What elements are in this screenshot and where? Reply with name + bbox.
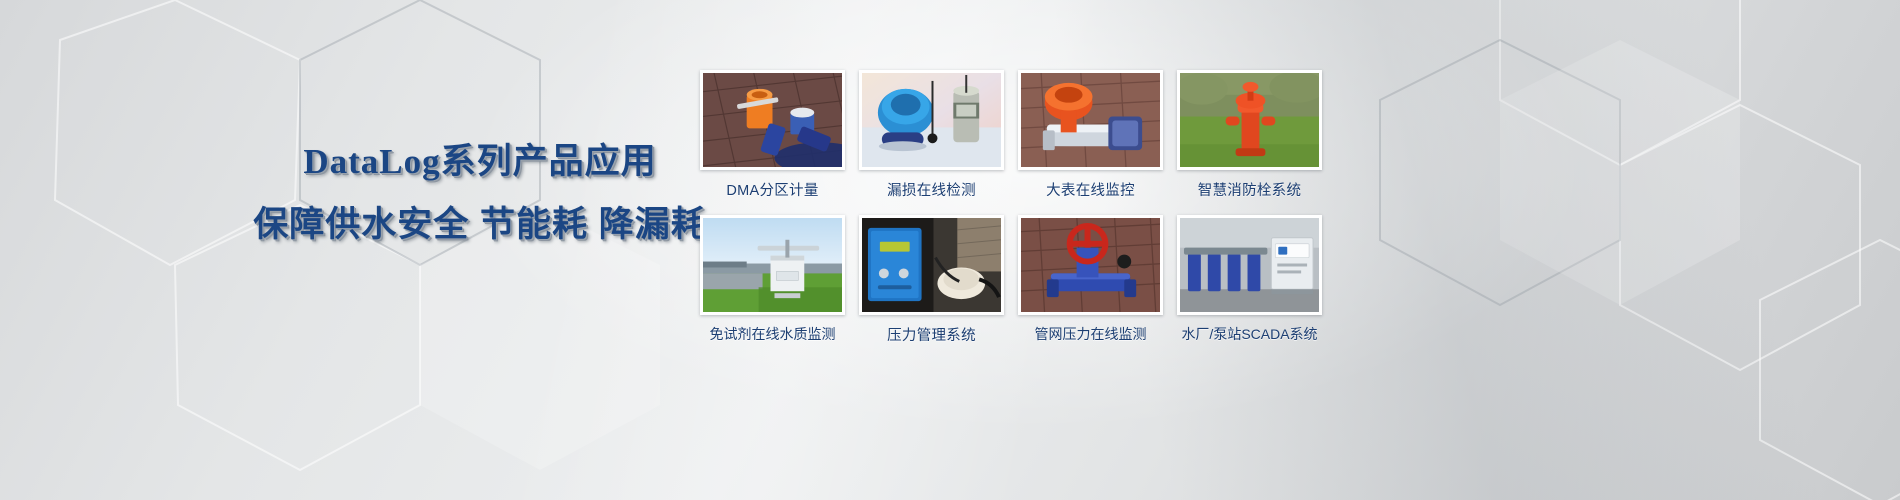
headline: DataLog系列产品应用 保障供水安全 节能耗 降漏耗 <box>250 140 710 248</box>
product-card[interactable]: DMA分区计量 <box>700 70 845 205</box>
product-card[interactable]: 大表在线监控 <box>1018 70 1163 205</box>
leakage-online-detection-photo <box>862 73 1001 167</box>
product-caption: 大表在线监控 <box>1046 179 1135 200</box>
product-caption: 智慧消防栓系统 <box>1198 179 1302 200</box>
headline-line-1: DataLog系列产品应用 <box>250 140 710 184</box>
product-caption: DMA分区计量 <box>726 179 818 200</box>
product-thumbnail[interactable] <box>859 70 1004 170</box>
product-card[interactable]: 漏损在线检测 <box>859 70 1004 205</box>
product-grid: DMA分区计量 <box>700 70 1322 350</box>
product-caption: 免试剂在线水质监测 <box>710 324 836 344</box>
product-application-banner: DataLog系列产品应用 保障供水安全 节能耗 降漏耗 <box>0 0 1900 500</box>
headline-line-2: 保障供水安全 节能耗 降漏耗 <box>250 202 710 248</box>
product-card[interactable]: 管网压力在线监测 <box>1018 215 1163 350</box>
product-caption: 水厂/泵站SCADA系统 <box>1181 324 1317 344</box>
pipe-network-pressure-photo <box>1021 218 1160 312</box>
waterworks-scada-photo <box>1180 218 1319 312</box>
product-caption: 压力管理系统 <box>887 324 976 345</box>
product-card[interactable]: 免试剂在线水质监测 <box>700 215 845 350</box>
product-thumbnail[interactable] <box>700 215 845 315</box>
smart-hydrant-system-photo <box>1180 73 1319 167</box>
product-caption: 漏损在线检测 <box>887 179 976 200</box>
dma-zone-metering-photo <box>703 73 842 167</box>
product-thumbnail[interactable] <box>1018 215 1163 315</box>
product-thumbnail[interactable] <box>1177 70 1322 170</box>
product-card[interactable]: 智慧消防栓系统 <box>1177 70 1322 205</box>
product-card[interactable]: 水厂/泵站SCADA系统 <box>1177 215 1322 350</box>
product-thumbnail[interactable] <box>1018 70 1163 170</box>
large-meter-monitoring-photo <box>1021 73 1160 167</box>
product-thumbnail[interactable] <box>1177 215 1322 315</box>
reagent-free-water-quality-photo <box>703 218 842 312</box>
pressure-management-system-photo <box>862 218 1001 312</box>
product-card[interactable]: 压力管理系统 <box>859 215 1004 350</box>
product-caption: 管网压力在线监测 <box>1035 324 1147 344</box>
product-thumbnail[interactable] <box>859 215 1004 315</box>
product-thumbnail[interactable] <box>700 70 845 170</box>
